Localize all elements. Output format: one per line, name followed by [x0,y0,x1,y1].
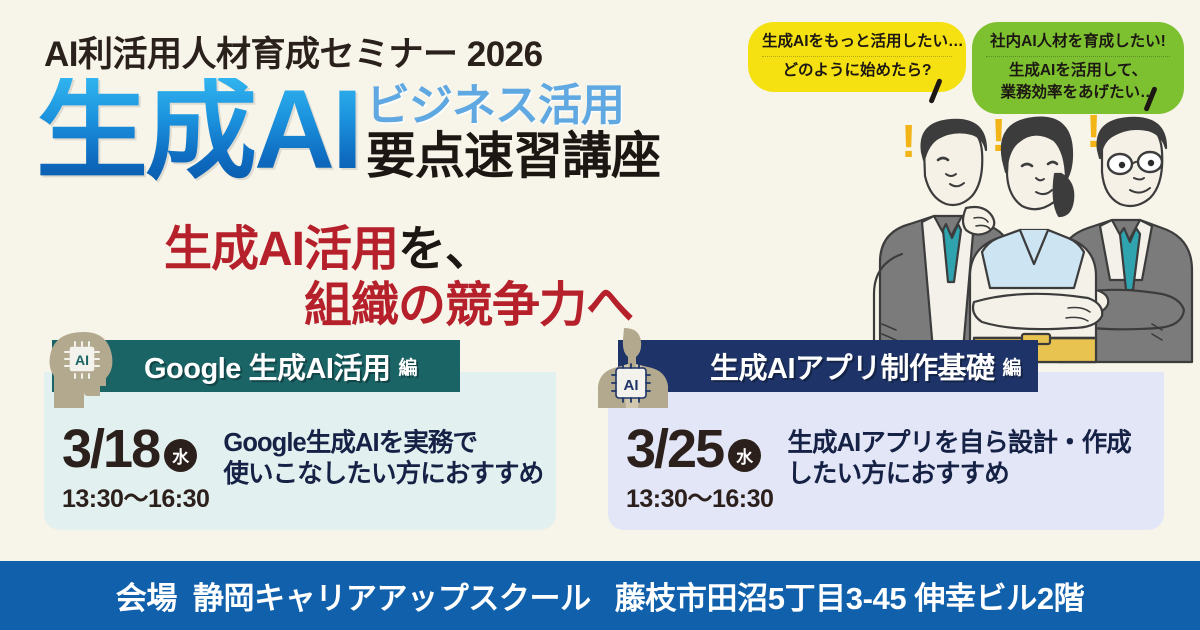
seminar-banner: AI利活用人材育成セミナー 2026 生成AI ビジネス活用 要点速習講座 生成… [0,0,1200,630]
course-desc-right-line2: したい方におすすめ [787,459,1131,490]
catch-copy-line1: 生成AI活用を、 [164,222,633,278]
venue-address: 藤枝市田沼5丁目3-45 伸幸ビル2階 [615,581,1085,616]
svg-text:AI: AI [624,377,639,394]
course-day-badge-right: 水 [728,439,761,472]
course-dateline-right: 3/25 水 [626,424,773,475]
course-date-block-right: 3/25 水 13:30～16:30 [626,424,773,515]
speech-bubble-yellow-line1: 生成AIをもっと活用したい… [762,31,952,57]
course-time-left: 13:30～16:30 [62,479,209,515]
title-sub-group: ビジネス活用 要点速習講座 [366,84,660,182]
course-ribbon-right-title: 生成AIアプリ制作基礎 [710,345,995,387]
course-date-left: 3/18 [62,424,159,475]
ai-person-laptop-icon: AI [594,326,680,408]
title-subline-course: 要点速習講座 [366,131,660,182]
course-dateline-left: 3/18 水 [62,424,209,475]
catch-copy-line1-red: 生成AI活用 [164,223,398,276]
venue-label: 会場 [116,581,177,616]
course-day-badge-left: 水 [164,439,197,472]
course-desc-left: Google生成AIを実務で 使いこなしたい方におすすめ [223,428,543,490]
catch-copy: 生成AI活用を、 組織の競争力へ [164,222,633,333]
course-date-block-left: 3/18 水 13:30～16:30 [62,424,209,515]
course-date-row-right: 3/25 水 13:30～16:30 生成AIアプリを自ら設計・作成 したい方に… [626,424,1131,515]
course-ribbon-right: 生成AIアプリ制作基礎 編 [618,340,1038,392]
speech-bubble-green-line1: 社内AI人材を育成したい! [986,31,1170,57]
course-time-right: 13:30～16:30 [626,479,773,515]
course-desc-left-line2: 使いこなしたい方におすすめ [223,459,543,490]
speech-bubble-yellow-line2: どのように始めたら? [762,60,952,82]
speech-bubble-yellow: 生成AIをもっと活用したい… どのように始めたら? [748,22,966,92]
three-businesspeople-illustration [862,112,1200,374]
course-desc-left-line1: Google生成AIを実務で [223,428,543,459]
course-ribbon-left-suffix: 編 [398,353,417,380]
course-date-row-left: 3/18 水 13:30～16:30 Google生成AIを実務で 使いこなした… [62,424,543,515]
catch-copy-line1-black: を、 [398,223,492,276]
course-desc-right: 生成AIアプリを自ら設計・作成 したい方におすすめ [787,428,1131,490]
speech-bubble-green-line3: 業務効率をあげたい… [986,82,1170,104]
course-desc-right-line1: 生成AIアプリを自ら設計・作成 [787,428,1131,459]
venue-text: 会場静岡キャリアアップスクール藤枝市田沼5丁目3-45 伸幸ビル2階 [116,573,1085,618]
course-ribbon-right-suffix: 編 [1003,353,1022,380]
venue-name: 静岡キャリアアップスクール [193,581,591,616]
title-main-text: 生成AI [36,78,360,182]
catch-copy-line2: 組織の競争力へ [304,278,633,334]
venue-bar: 会場静岡キャリアアップスクール藤枝市田沼5丁目3-45 伸幸ビル2階 [0,561,1200,630]
title-subline-business: ビジネス活用 [366,84,660,129]
main-title-group: 生成AI ビジネス活用 要点速習講座 [36,78,660,182]
svg-text:AI: AI [75,352,89,368]
course-ribbon-left-title: Google 生成AI活用 [144,345,390,387]
course-date-right: 3/25 [626,424,723,475]
speech-bubble-green-line2: 生成AIを活用して、 [986,60,1170,82]
ai-head-icon: AI [44,330,122,408]
